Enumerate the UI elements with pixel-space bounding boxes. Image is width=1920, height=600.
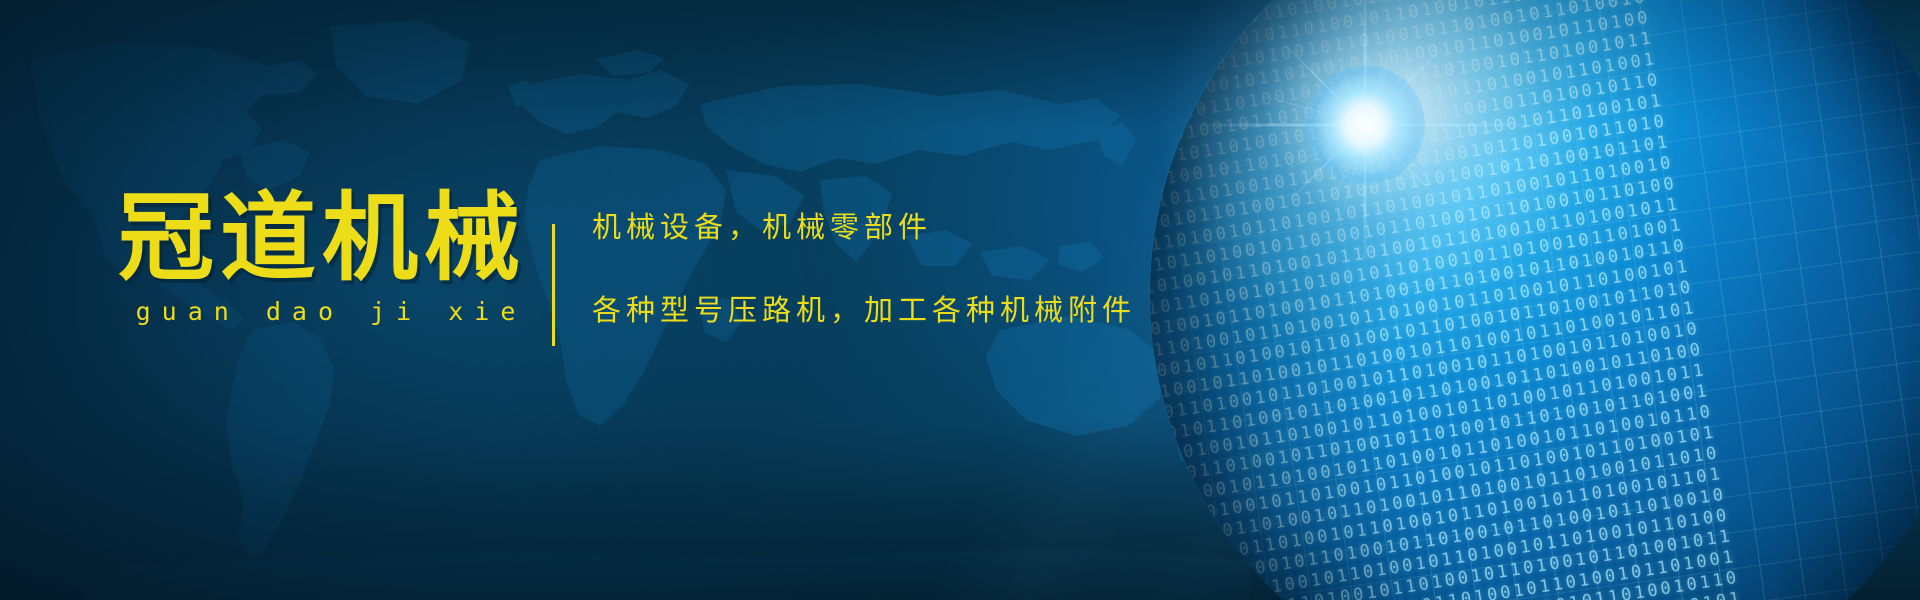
logo-pinyin: guan dao ji xie [118, 298, 538, 326]
hero-banner: 1011010010110100101101001011010010110100… [0, 0, 1920, 600]
vertical-divider [552, 224, 555, 346]
logo-title: 冠道机械 [118, 186, 538, 290]
slogan-line-2: 各种型号压路机，加工各种机械附件 [592, 293, 1232, 327]
slogan-group: 机械设备，机械零部件 各种型号压路机，加工各种机械附件 [592, 196, 1232, 327]
logo-block: 冠道机械 guan dao ji xie [118, 186, 538, 326]
banner-content: 冠道机械 guan dao ji xie 机械设备，机械零部件 各种型号压路机，… [0, 0, 1920, 600]
slogan-line-1: 机械设备，机械零部件 [592, 210, 1232, 244]
